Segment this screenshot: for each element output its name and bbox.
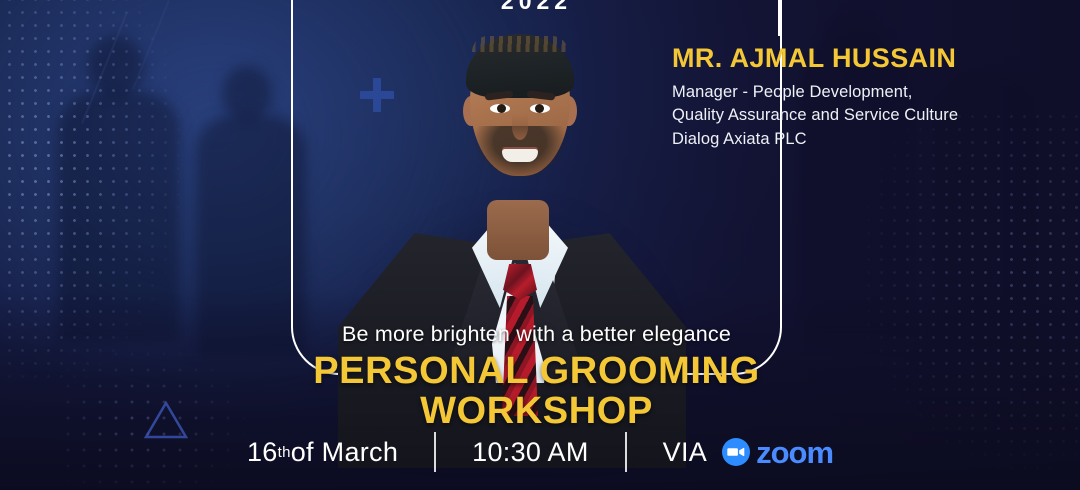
via-label: VIA: [663, 437, 707, 468]
portrait-nose: [512, 114, 528, 140]
event-date-ordinal: th: [278, 444, 291, 461]
event-time: 10:30 AM: [472, 437, 588, 468]
details-separator: [625, 432, 627, 472]
event-headline-line-1: PERSONAL GROOMING: [291, 351, 782, 391]
zoom-wordmark: zoom: [756, 437, 833, 468]
speaker-name: MR. AJMAL HUSSAIN: [672, 44, 1032, 74]
event-headline-line-2: WORKSHOP: [291, 391, 782, 431]
portrait-pupil-right: [535, 104, 544, 113]
webinar-promo-banner: 2022 MR. AJMAL HUSSAIN Manager - People …: [0, 0, 1080, 490]
speaker-organization: Dialog Axiata PLC: [672, 128, 1032, 151]
portrait-neck: [487, 200, 549, 260]
details-separator: [434, 432, 436, 472]
portrait-pupil-left: [497, 104, 506, 113]
speaker-title-line-1: Manager - People Development,: [672, 81, 1032, 104]
year-label-wrapper: 2022: [291, 0, 782, 16]
portrait-hair: [466, 34, 574, 98]
portrait-mouth: [502, 149, 538, 162]
event-date: 16th of March: [247, 437, 398, 468]
event-title-block: Be more brighten with a better elegance …: [291, 322, 782, 432]
event-date-number: 16: [247, 437, 278, 468]
video-camera-icon: [721, 437, 751, 467]
frame-tick-mark: [778, 0, 780, 36]
speaker-info-block: MR. AJMAL HUSSAIN Manager - People Devel…: [672, 44, 1032, 151]
event-platform: VIA zoom: [663, 437, 833, 468]
event-date-month: of March: [291, 437, 398, 468]
zoom-logo[interactable]: zoom: [721, 437, 833, 468]
event-details-bar: 16th of March 10:30 AM VIA zoom: [0, 432, 1080, 472]
year-label: 2022: [291, 0, 782, 15]
speaker-title-line-2: Quality Assurance and Service Culture: [672, 104, 1032, 127]
event-tagline: Be more brighten with a better elegance: [291, 322, 782, 347]
